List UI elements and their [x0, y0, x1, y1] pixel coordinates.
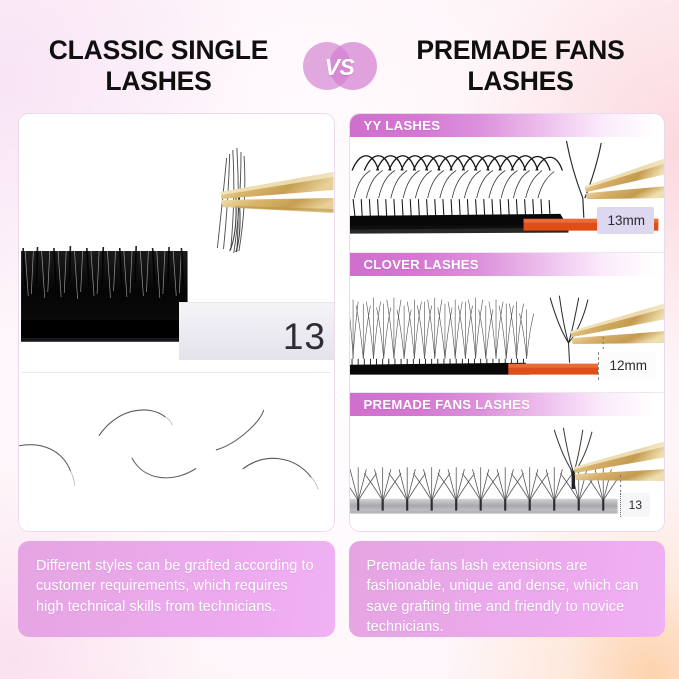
vs-badge: VS	[303, 36, 377, 96]
clover-measurement-chip: 12mm	[598, 352, 656, 380]
single-lashes-panel	[19, 373, 334, 531]
premade-fans-caption: Premade fans lash extensions are fashion…	[349, 541, 666, 637]
vs-label: VS	[325, 54, 355, 81]
left-column-title: CLASSIC SINGLE LASHES	[19, 35, 303, 96]
section-label-clover: CLOVER LASHES	[350, 253, 665, 276]
section-label-premade-fans: PREMADE FANS LASHES	[350, 393, 665, 416]
section-clover-lashes: CLOVER LASHES	[350, 253, 665, 392]
right-column-title: PREMADE FANS LASHES	[377, 35, 661, 96]
infographic-canvas: CLASSIC SINGLE LASHES VS PREMADE FANS LA…	[0, 0, 679, 679]
classic-lashes-card: 13	[18, 113, 335, 532]
yy-lashes-illustration	[350, 137, 665, 252]
section-yy-lashes: YY LASHES	[350, 114, 665, 253]
classic-strip-panel: 13	[19, 114, 334, 372]
premade-fans-measurement-chip: 13	[620, 493, 650, 517]
left-column: 13	[18, 113, 335, 637]
classic-ruler-plate: 13	[179, 302, 334, 360]
premade-fans-body: 13	[350, 416, 665, 531]
yy-measurement-chip: 13mm	[597, 207, 654, 235]
classic-length-value: 13	[283, 318, 326, 355]
section-label-yy: YY LASHES	[350, 114, 665, 137]
section-premade-fans: PREMADE FANS LASHES	[350, 393, 665, 531]
premade-fans-illustration	[350, 416, 665, 531]
header: CLASSIC SINGLE LASHES VS PREMADE FANS LA…	[0, 26, 679, 106]
single-lash-curves-illustration	[19, 373, 334, 531]
classic-caption: Different styles can be grafted accordin…	[18, 541, 335, 637]
yy-lashes-body: 13mm	[350, 137, 665, 252]
classic-lash-band	[21, 246, 188, 342]
premade-fans-card: YY LASHES	[349, 113, 666, 532]
clover-lashes-body: 12mm	[350, 276, 665, 391]
comparison-columns: 13	[18, 113, 665, 637]
right-column: YY LASHES	[349, 113, 666, 637]
